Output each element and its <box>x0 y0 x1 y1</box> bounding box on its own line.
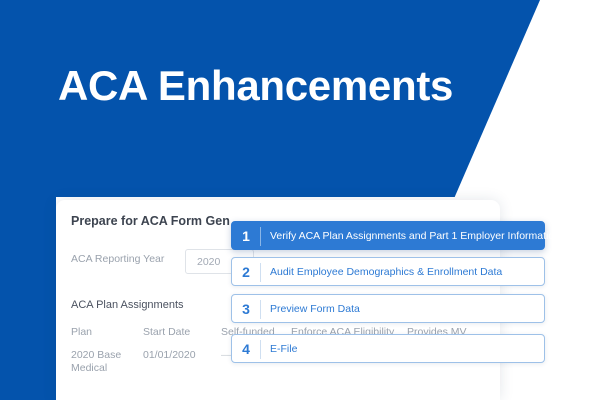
step-label-1: Verify ACA Plan Assignments and Part 1 E… <box>270 222 560 249</box>
step-divider <box>260 340 261 359</box>
step-number-3: 3 <box>232 295 260 322</box>
step-divider <box>260 227 261 246</box>
step-divider <box>260 263 261 282</box>
plan-assignments-heading: ACA Plan Assignments <box>71 299 184 311</box>
column-header-start-date: Start Date <box>143 326 190 338</box>
card-title: Prepare for ACA Form Gen <box>71 214 230 228</box>
reporting-year-label: ACA Reporting Year <box>71 253 164 265</box>
cell-self-funded: — <box>221 349 232 361</box>
step-label-4: E-File <box>270 335 297 362</box>
step-item-4[interactable]: 4 E-File <box>231 334 545 363</box>
step-item-3[interactable]: 3 Preview Form Data <box>231 294 545 323</box>
step-label-3: Preview Form Data <box>270 295 360 322</box>
page-title: ACA Enhancements <box>58 62 453 110</box>
step-number-2: 2 <box>232 258 260 285</box>
step-item-1[interactable]: 1 Verify ACA Plan Assignments and Part 1… <box>231 221 545 250</box>
aca-steps-overlay: 1 Verify ACA Plan Assignments and Part 1… <box>231 221 545 370</box>
step-number-1: 1 <box>232 222 260 249</box>
cell-start-date: 01/01/2020 <box>143 349 196 361</box>
step-divider <box>260 300 261 319</box>
step-label-2: Audit Employee Demographics & Enrollment… <box>270 258 502 285</box>
step-number-4: 4 <box>232 335 260 362</box>
screenshot-stage: ACA Enhancements Prepare for ACA Form Ge… <box>0 0 600 400</box>
cell-plan: 2020 Base Medical <box>71 349 133 375</box>
column-header-plan: Plan <box>71 326 92 338</box>
step-item-2[interactable]: 2 Audit Employee Demographics & Enrollme… <box>231 257 545 286</box>
left-blue-rail <box>0 197 56 400</box>
reporting-year-value: 2020 <box>197 256 220 268</box>
